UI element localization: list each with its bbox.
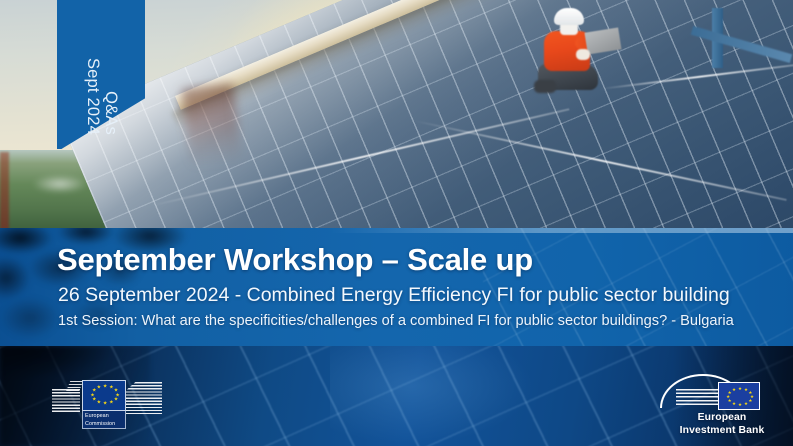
eu-star-icon: ★ xyxy=(726,395,730,399)
eu-star-icon: ★ xyxy=(103,403,107,408)
eu-star-icon: ★ xyxy=(114,399,118,404)
title-block: September Workshop – Scale up 26 Septemb… xyxy=(0,228,793,329)
european-commission-logo: ★★★★★★★★★★★★ European Commission xyxy=(52,374,164,430)
ec-wing-left xyxy=(52,389,80,413)
eu-star-icon: ★ xyxy=(90,394,94,399)
eu-star-icon: ★ xyxy=(103,385,107,390)
worker-boot xyxy=(534,80,556,93)
eu-star-icon: ★ xyxy=(738,403,742,407)
worker-reflection xyxy=(181,83,242,169)
slide-session-line: 1st Session: What are the specificities/… xyxy=(58,313,793,329)
eu-star-icon: ★ xyxy=(744,402,748,406)
worker-on-roof xyxy=(530,6,640,96)
eu-stars-ring: ★★★★★★★★★★★★ xyxy=(83,381,125,410)
ec-text-line-1: European xyxy=(85,412,125,420)
ec-logo-text: European Commission xyxy=(82,411,126,429)
eu-star-icon: ★ xyxy=(738,387,742,391)
eib-text-line-1: European xyxy=(660,412,784,425)
presentation-slide: September Workshop – Scale up 26 Septemb… xyxy=(0,0,793,446)
ec-text-line-2: Commission xyxy=(85,420,125,428)
eu-star-icon: ★ xyxy=(109,402,113,407)
eu-star-icon: ★ xyxy=(97,386,101,391)
left-mast xyxy=(0,152,9,232)
ribbon-label: Q&As Sept 2024 xyxy=(57,0,145,149)
eu-star-icon: ★ xyxy=(92,399,96,404)
ribbon-line-1: Q&As xyxy=(101,91,119,135)
eib-lines-icon xyxy=(676,389,724,407)
eu-star-icon: ★ xyxy=(732,388,736,392)
slide-subtitle: 26 September 2024 - Combined Energy Effi… xyxy=(58,285,793,306)
eib-logo-text: European Investment Bank xyxy=(660,412,784,437)
eu-star-icon: ★ xyxy=(744,388,748,392)
worker-hand xyxy=(576,49,590,60)
european-investment-bank-logo: ★★★★★★★★★★★★ European Investment Bank xyxy=(660,372,784,434)
eu-stars-ring: ★★★★★★★★★★★★ xyxy=(719,383,759,409)
footer-highlight xyxy=(330,346,660,446)
eu-star-icon: ★ xyxy=(97,402,101,407)
slide-title: September Workshop – Scale up xyxy=(57,244,793,277)
eu-star-icon: ★ xyxy=(728,391,732,395)
ec-wing-right xyxy=(126,382,162,414)
eu-star-icon: ★ xyxy=(732,402,736,406)
eu-star-icon: ★ xyxy=(728,399,732,403)
eu-flag-icon: ★★★★★★★★★★★★ xyxy=(718,382,760,410)
eib-text-line-2: Investment Bank xyxy=(660,425,784,438)
laptop xyxy=(584,27,621,54)
eu-flag-icon: ★★★★★★★★★★★★ xyxy=(82,380,126,411)
eu-star-icon: ★ xyxy=(748,399,752,403)
ribbon-line-2: Sept 2024 xyxy=(83,58,101,135)
hard-hat-icon xyxy=(554,8,584,25)
